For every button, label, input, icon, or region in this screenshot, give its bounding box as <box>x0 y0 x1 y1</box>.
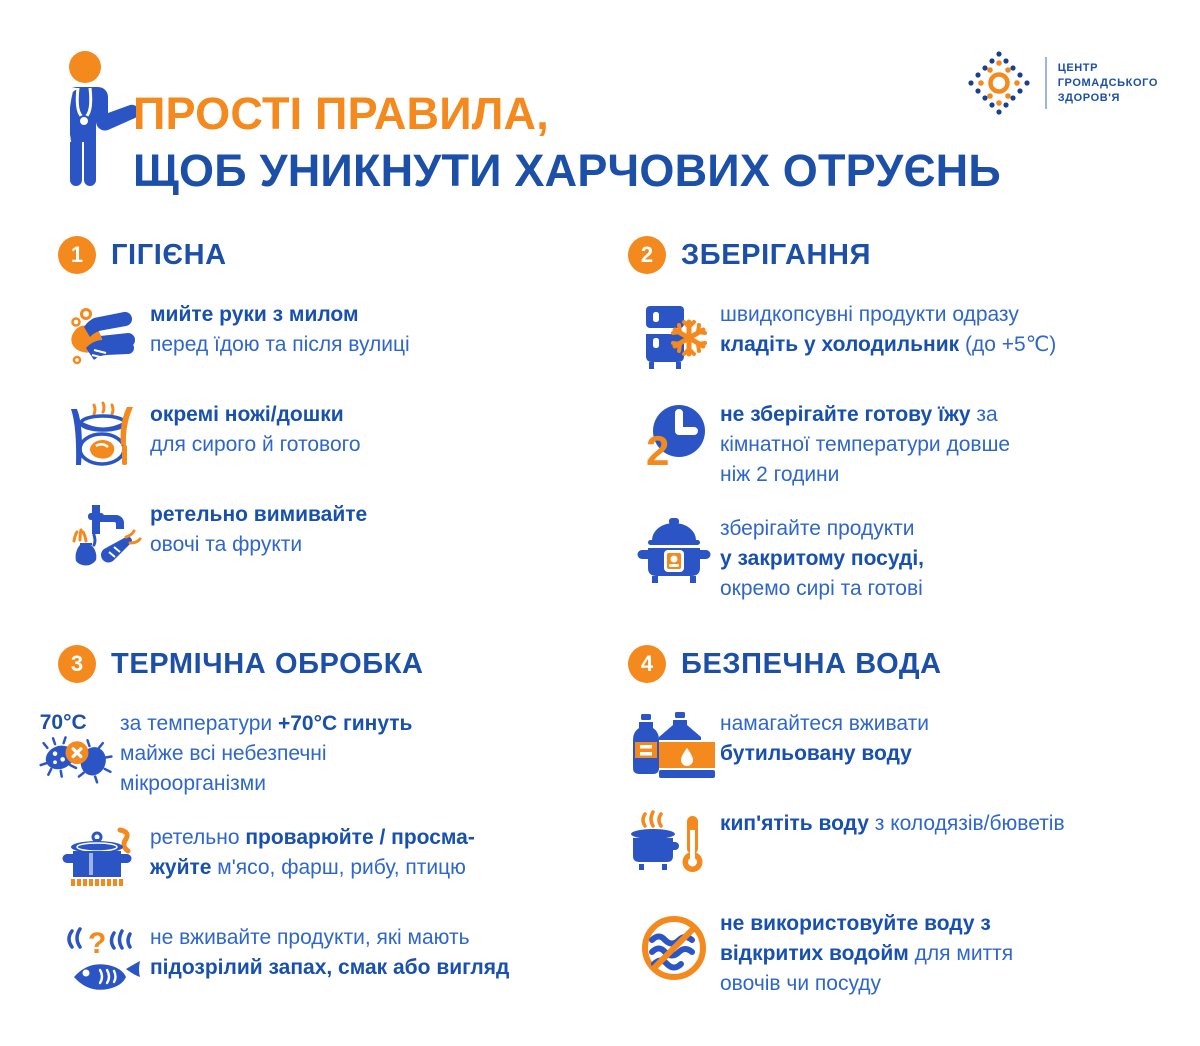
section-heat-treatment: 3 ТЕРМІЧНА ОБРОБКА 70°C <box>58 645 618 1021</box>
refrigerator-snowflake-icon <box>628 298 720 376</box>
item-bold-text: +70°C гинуть <box>278 712 413 735</box>
list-item-text: за температури +70°C гинуть майже всі не… <box>120 707 412 799</box>
item-regular-text-2: окремо сирі та готові <box>720 577 923 600</box>
item-regular-text: овочі та фрукти <box>150 533 302 556</box>
section-safe-water: 4 БЕЗПЕЧНА ВОДА намагайтеся вживати бути… <box>628 645 1188 1021</box>
item-bold-text: не використовуйте воду з <box>720 912 991 935</box>
item-bold-text: у закритому посуді, <box>720 547 924 570</box>
item-regular-text-2: м'ясо, фарш, рибу, птицю <box>211 856 465 879</box>
item-regular-text: ретельно <box>150 826 245 849</box>
list-item: зберігайте продукти у закритому посуді, … <box>628 512 1188 604</box>
list-item-text: окремі ножі/дошки для сирого й готового <box>150 398 361 460</box>
item-bold-text: підозрілий запах, смак або вигляд <box>150 956 509 979</box>
faucet-vegetables-icon <box>58 498 150 576</box>
covered-pot-icon <box>628 512 720 590</box>
svg-text:2: 2 <box>646 427 669 474</box>
section-1-title: ГІГІЄНА <box>111 239 227 272</box>
item-bold-text-2: відкритих водойм <box>720 942 909 965</box>
knife-cutting-board-meat-icon <box>58 398 150 476</box>
item-bold-text-2: жуйте <box>150 856 211 879</box>
suspicious-fish-smell-icon: ? <box>58 921 150 999</box>
item-regular-text: швидкопсувні продукти одразу <box>720 303 1019 326</box>
item-bold-text: окремі ножі/дошки <box>150 403 344 426</box>
list-item: мийте руки з милом перед їдою та після в… <box>58 298 598 376</box>
item-regular-text-2: майже всі небезпечні <box>120 742 327 765</box>
title-line-1: ПРОСТІ ПРАВИЛА, <box>133 86 1001 142</box>
section-3-header: 3 ТЕРМІЧНА ОБРОБКА <box>58 645 618 683</box>
header: ПРОСТІ ПРАВИЛА, ЩОБ УНИКНУТИ ХАРЧОВИХ ОТ… <box>0 0 1200 215</box>
boiling-pot-icon <box>58 821 150 899</box>
list-item-text: не використовуйте воду з відкритих водой… <box>720 907 1013 999</box>
item-regular-text: зберігайте продукти <box>720 517 915 540</box>
section-4-title: БЕЗПЕЧНА ВОДА <box>681 648 942 681</box>
item-regular-text: намагайтеся вживати <box>720 712 929 735</box>
section-1-header: 1 ГІГІЄНА <box>58 236 598 274</box>
list-item-text: ретельно вимивайте овочі та фрукти <box>150 498 367 560</box>
cph-dotted-diamond-logo-icon <box>964 48 1034 118</box>
bottled-water-icon <box>628 707 720 785</box>
item-bold-text: ретельно вимивайте <box>150 503 367 526</box>
list-item-text: мийте руки з милом перед їдою та після в… <box>150 298 410 360</box>
item-regular-text: за <box>971 403 998 426</box>
item-regular-text: з колодязів/бюветів <box>869 812 1065 835</box>
item-regular-text: для миття <box>909 942 1013 965</box>
no-open-water-icon <box>628 907 720 985</box>
germs-icon-temperature-label: 70°C <box>40 711 87 734</box>
section-hygiene: 1 ГІГІЄНА мийте руки з милом п <box>58 236 598 598</box>
list-item: ? не вживайте продукти, які мають підозр… <box>58 921 618 999</box>
item-regular-text-2: (до +5℃) <box>959 333 1056 356</box>
item-regular-text-2: кімнатної температури довше <box>720 433 1010 456</box>
organization-logo: ЦЕНТР ГРОМАДСЬКОГО ЗДОРОВ'Я <box>964 48 1158 118</box>
item-regular-text-3: ніж 2 години <box>720 463 839 486</box>
section-4-number-badge: 4 <box>628 645 666 683</box>
section-2-number-badge: 2 <box>628 236 666 274</box>
logo-text-line-3: ЗДОРОВ'Я <box>1058 91 1158 106</box>
item-regular-text: перед їдою та після вулиці <box>150 333 410 356</box>
boiling-water-thermometer-icon <box>628 807 720 885</box>
item-bold-text: бутильовану воду <box>720 742 912 765</box>
section-3-number-badge: 3 <box>58 645 96 683</box>
item-regular-text: не вживайте продукти, які мають <box>150 926 470 949</box>
germs-70c-icon: 70°C <box>34 707 120 785</box>
list-item: ретельно проварюйте / просма- жуйте м'яс… <box>58 821 618 899</box>
svg-text:?: ? <box>88 927 106 960</box>
logo-text-line-1: ЦЕНТР <box>1058 61 1158 76</box>
clock-two-hours-icon: 2 <box>628 398 720 476</box>
list-item-text: намагайтеся вживати бутильовану воду <box>720 707 929 769</box>
item-bold-text: не зберігайте готову їжу <box>720 403 971 426</box>
list-item: ретельно вимивайте овочі та фрукти <box>58 498 598 576</box>
section-storage: 2 ЗБЕРІГАННЯ <box>628 236 1188 626</box>
list-item-text: кип'ятіть воду з колодязів/бюветів <box>720 807 1065 839</box>
section-2-header: 2 ЗБЕРІГАННЯ <box>628 236 1188 274</box>
list-item: намагайтеся вживати бутильовану воду <box>628 707 1188 785</box>
section-1-number-badge: 1 <box>58 236 96 274</box>
list-item: окремі ножі/дошки для сирого й готового <box>58 398 598 476</box>
list-item-text: не вживайте продукти, які мають підозріл… <box>150 921 509 983</box>
item-bold-text: кладіть у холодильник <box>720 333 959 356</box>
logo-text: ЦЕНТР ГРОМАДСЬКОГО ЗДОРОВ'Я <box>1058 61 1158 106</box>
item-regular-text-2: овочів чи посуду <box>720 972 881 995</box>
item-regular-text-3: мікроорганізми <box>120 772 266 795</box>
logo-divider <box>1045 57 1047 109</box>
item-regular-text: за температури <box>120 712 278 735</box>
list-item-text: ретельно проварюйте / просма- жуйте м'яс… <box>150 821 475 883</box>
section-3-title: ТЕРМІЧНА ОБРОБКА <box>111 648 424 681</box>
item-bold-text: кип'ятіть воду <box>720 812 869 835</box>
list-item-text: зберігайте продукти у закритому посуді, … <box>720 512 924 604</box>
list-item: не використовуйте воду з відкритих водой… <box>628 907 1188 999</box>
section-4-header: 4 БЕЗПЕЧНА ВОДА <box>628 645 1188 683</box>
title-line-2: ЩОБ УНИКНУТИ ХАРЧОВИХ ОТРУЄНЬ <box>133 142 1001 200</box>
washing-hands-soap-icon <box>58 298 150 376</box>
item-bold-text: мийте руки з милом <box>150 303 359 326</box>
list-item-text: швидкопсувні продукти одразу кладіть у х… <box>720 298 1056 360</box>
list-item: кип'ятіть воду з колодязів/бюветів <box>628 807 1188 885</box>
list-item-text: не зберігайте готову їжу за кімнатної те… <box>720 398 1010 490</box>
item-regular-text: для сирого й готового <box>150 433 361 456</box>
list-item: 70°C <box>34 707 618 799</box>
page-title: ПРОСТІ ПРАВИЛА, ЩОБ УНИКНУТИ ХАРЧОВИХ ОТ… <box>133 86 1001 200</box>
section-2-title: ЗБЕРІГАННЯ <box>681 239 871 272</box>
item-bold-text: проварюйте / просма- <box>245 826 474 849</box>
list-item: швидкопсувні продукти одразу кладіть у х… <box>628 298 1188 376</box>
list-item: 2 не зберігайте готову їжу за кімнатної … <box>628 398 1188 490</box>
logo-text-line-2: ГРОМАДСЬКОГО <box>1058 76 1158 91</box>
